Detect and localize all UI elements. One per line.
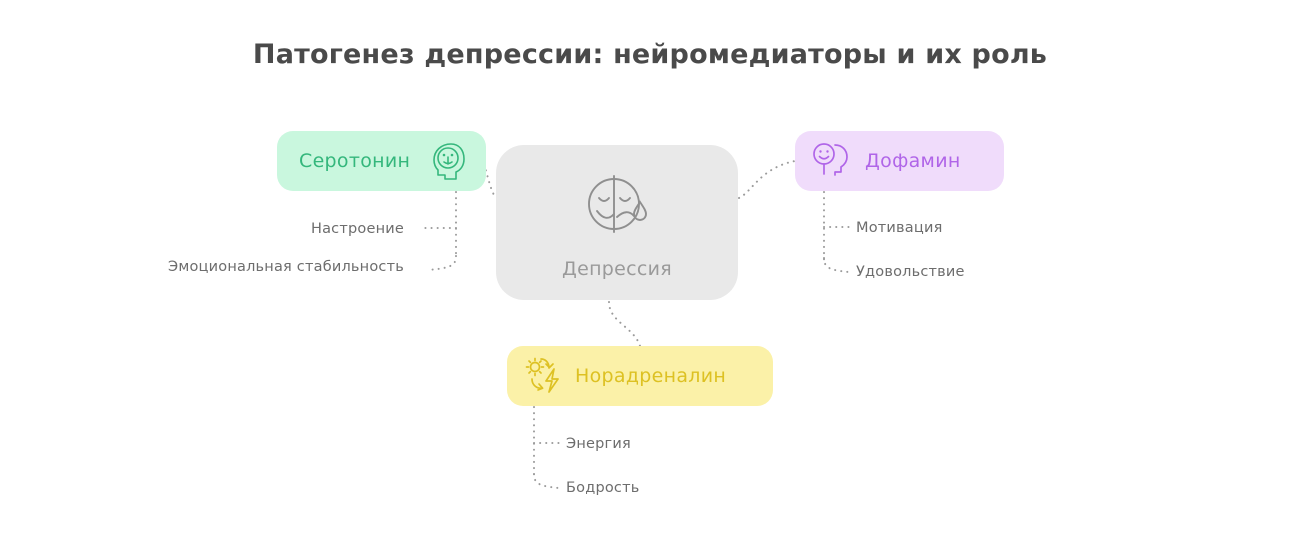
node-noradrenaline-label: Норадреналин: [575, 365, 726, 387]
node-serotonin-label: Серотонин: [299, 150, 410, 172]
node-noradrenaline[interactable]: Норадреналин: [507, 346, 773, 406]
sub-label-serotonin-stability: Эмоциональная стабильность: [168, 259, 404, 275]
head-with-face-circle-icon: [430, 141, 468, 181]
node-dopamine[interactable]: Дофамин: [795, 131, 1004, 191]
half-happy-half-sad-face-icon: [581, 170, 653, 242]
link-dopamine-child-2: [824, 258, 848, 272]
sub-label-noradrenaline-energy: Энергия: [566, 436, 631, 452]
link-noradrenaline-child-2: [534, 474, 558, 488]
link-serotonin-child-2: [428, 256, 456, 270]
sun-lightning-cycle-icon: [523, 355, 565, 397]
node-depression[interactable]: Депрессия: [496, 145, 738, 300]
sub-label-dopamine-pleasure: Удовольствие: [856, 264, 965, 280]
node-depression-label: Депрессия: [562, 258, 672, 280]
page-title: Патогенез депрессии: нейромедиаторы и их…: [0, 39, 1300, 70]
diagram-canvas: Патогенез депрессии: нейромедиаторы и их…: [0, 0, 1300, 546]
sub-label-dopamine-motivation: Мотивация: [856, 220, 943, 236]
head-with-smiley-icon: [811, 141, 853, 181]
link-center-to-dopamine: [739, 161, 795, 198]
node-serotonin[interactable]: Серотонин: [277, 131, 486, 191]
link-center-to-noradrenaline: [609, 302, 640, 346]
sub-label-serotonin-mood: Настроение: [311, 221, 404, 237]
node-dopamine-label: Дофамин: [865, 150, 961, 172]
sub-label-noradrenaline-vigor: Бодрость: [566, 480, 639, 496]
